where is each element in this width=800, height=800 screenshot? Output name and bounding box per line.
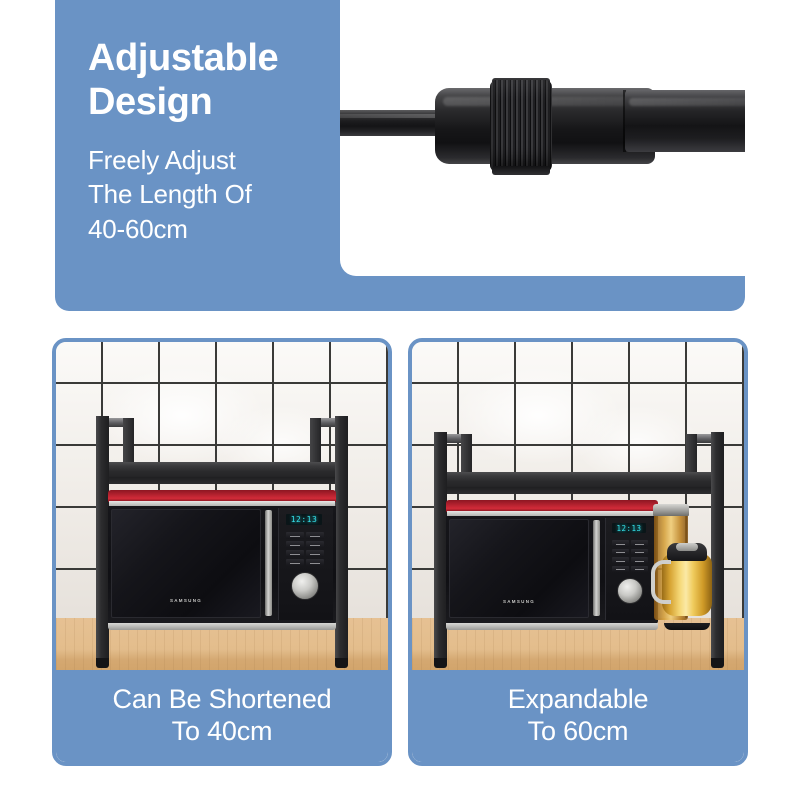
microwave-control-panel: 12:13: [605, 518, 655, 620]
microwave-button[interactable]: [631, 540, 648, 547]
rack-shelf-front-edge: [434, 487, 724, 494]
rack-post-right: [711, 432, 724, 662]
telescoping-rod-illustration: [340, 0, 745, 276]
panel-shortened: SAMSUNG 12:13: [52, 338, 392, 766]
hero-panel: Adjustable Design Freely Adjust The Leng…: [55, 0, 745, 311]
microwave-base-bezel: [446, 623, 658, 630]
microwave-button[interactable]: [631, 557, 648, 564]
microwave-dial-knob[interactable]: [291, 572, 319, 600]
rack-top-shelf: [434, 472, 724, 487]
microwave-door-glass: SAMSUNG: [111, 509, 261, 618]
rack-post-right: [335, 416, 348, 662]
microwave-oven: SAMSUNG 12:13: [108, 490, 336, 630]
microwave-button[interactable]: [306, 550, 324, 557]
microwave-oven: SAMSUNG 12:13: [446, 500, 658, 630]
microwave-brand-logo: SAMSUNG: [112, 598, 260, 603]
thermos-base: [664, 623, 710, 630]
microwave-body: SAMSUNG 12:13: [108, 506, 336, 624]
rod-photo-card: [340, 0, 745, 276]
microwave-control-panel: 12:13: [278, 508, 333, 620]
microwave-button[interactable]: [306, 541, 324, 548]
rod-knurled-collar: [490, 80, 552, 172]
microwave-button[interactable]: [286, 532, 304, 539]
glass-jar-lid: [653, 504, 689, 516]
microwave-button-grid: [286, 532, 324, 566]
rack-foot-right: [335, 658, 348, 668]
page-title: Adjustable Design: [88, 36, 363, 125]
rack-shelf-front-edge: [96, 477, 348, 484]
rack-foot-left: [96, 658, 109, 668]
rod-outer-tube: [625, 90, 745, 152]
panel-expanded: SAMSUNG 12:13: [408, 338, 748, 766]
hero-subtitle: Freely Adjust The Length Of 40-60cm: [88, 143, 363, 247]
microwave-button[interactable]: [612, 557, 629, 564]
microwave-button[interactable]: [631, 549, 648, 556]
rack-top-shelf: [96, 462, 348, 477]
rack-foot-left: [434, 658, 447, 668]
thermos-handle: [651, 560, 671, 604]
microwave-door-glass: SAMSUNG: [449, 519, 589, 618]
microwave-button[interactable]: [631, 566, 648, 573]
thermos-lid-cap: [676, 543, 698, 551]
microwave-button[interactable]: [286, 559, 304, 566]
microwave-button[interactable]: [306, 559, 324, 566]
gold-thermos-flask: [662, 538, 712, 630]
microwave-button[interactable]: [612, 549, 629, 556]
hero-text-block: Adjustable Design Freely Adjust The Leng…: [88, 36, 363, 247]
microwave-display: 12:13: [612, 523, 646, 533]
microwave-button[interactable]: [612, 540, 629, 547]
microwave-button[interactable]: [612, 566, 629, 573]
product-infographic: Adjustable Design Freely Adjust The Leng…: [0, 0, 800, 800]
caption-expanded: Expandable To 60cm: [412, 670, 744, 762]
thermos-lid: [667, 543, 707, 561]
rack-foot-right: [711, 658, 724, 668]
microwave-button-grid: [612, 540, 648, 572]
microwave-button[interactable]: [286, 541, 304, 548]
caption-shortened: Can Be Shortened To 40cm: [56, 670, 388, 762]
kitchen-scene-shortened: SAMSUNG 12:13: [56, 342, 388, 762]
microwave-brand-logo: SAMSUNG: [450, 599, 588, 604]
kitchen-scene-expanded: SAMSUNG 12:13: [412, 342, 744, 762]
rod-collar-cap-bottom: [492, 166, 550, 175]
microwave-dial-knob[interactable]: [617, 578, 643, 604]
microwave-base-bezel: [108, 623, 336, 630]
microwave-button[interactable]: [286, 550, 304, 557]
microwave-door-handle: [265, 510, 272, 616]
microwave-button[interactable]: [306, 532, 324, 539]
microwave-door-handle: [593, 520, 600, 616]
microwave-display: 12:13: [286, 514, 322, 525]
microwave-body: SAMSUNG 12:13: [446, 516, 658, 624]
